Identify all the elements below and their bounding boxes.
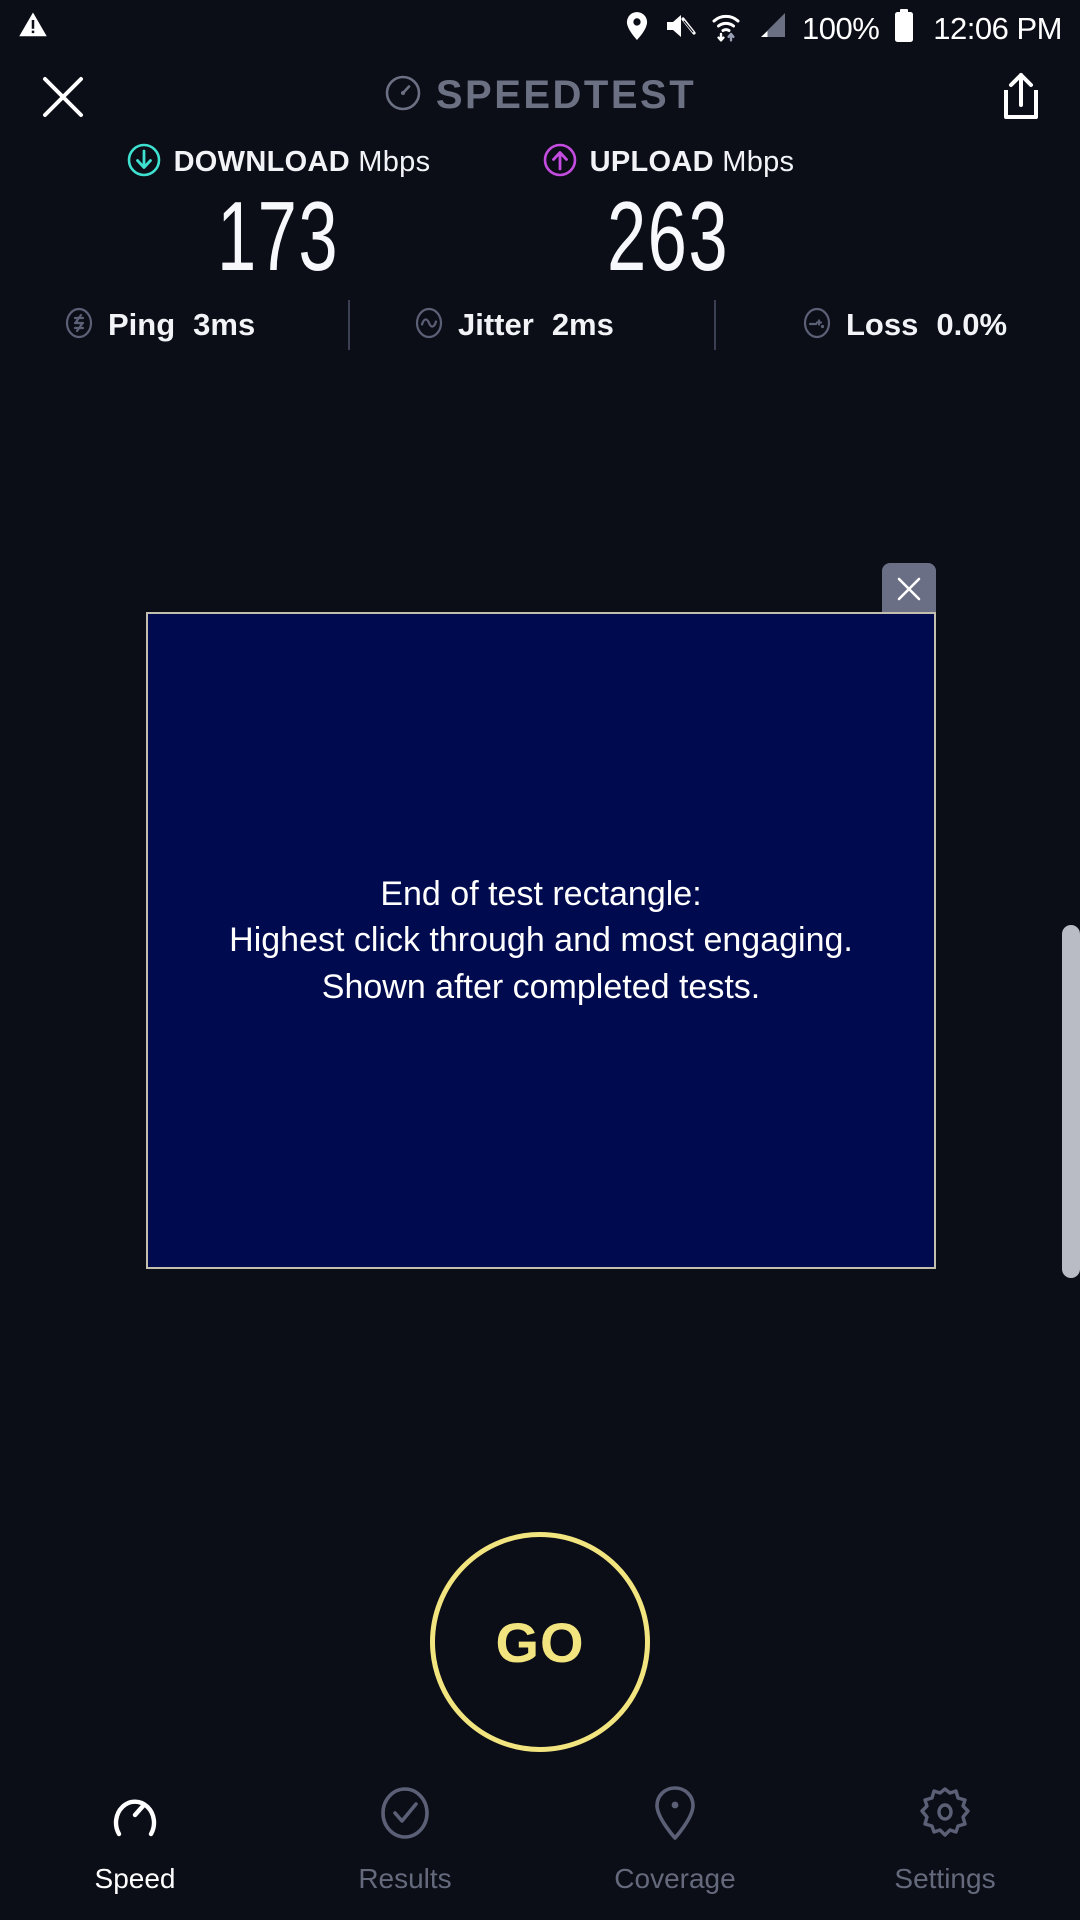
jitter-icon	[412, 306, 446, 345]
ping-label: Ping	[108, 307, 175, 343]
status-bar-right-cluster: 100% 12:06 PM	[624, 0, 1062, 56]
upload-label: UPLOAD	[590, 146, 714, 178]
jitter-value: 2ms	[552, 307, 614, 343]
wifi-icon	[710, 10, 742, 47]
brand-title: SPEEDTEST	[436, 73, 696, 118]
metrics-divider-1	[348, 300, 350, 350]
ad-text: End of test rectangle: Highest click thr…	[229, 871, 853, 1010]
share-icon[interactable]	[990, 66, 1052, 128]
metric-ping: Ping 3ms	[62, 306, 255, 345]
nav-item-results[interactable]: Results	[270, 1784, 540, 1895]
download-unit: Mbps	[358, 146, 430, 178]
metric-loss: Loss 0.0%	[800, 306, 1007, 345]
location-icon	[624, 11, 650, 46]
ad-line-2: Highest click through and most engaging.	[229, 917, 853, 963]
metric-jitter: Jitter 2ms	[412, 306, 614, 345]
metrics-divider-2	[714, 300, 716, 350]
advertisement-banner[interactable]: End of test rectangle: Highest click thr…	[146, 612, 936, 1269]
upload-result: UPLOAD Mbps 263	[468, 140, 868, 288]
nav-label-speed: Speed	[95, 1863, 176, 1895]
upload-arrow-icon	[542, 142, 578, 183]
bottom-navigation: Speed Results Coverage	[0, 1770, 1080, 1920]
nav-item-coverage[interactable]: Coverage	[540, 1784, 810, 1895]
nav-label-coverage: Coverage	[614, 1863, 735, 1895]
go-button-label: GO	[495, 1610, 584, 1675]
download-value: 173	[134, 186, 422, 288]
ping-icon	[62, 306, 96, 345]
battery-percent-label: 100%	[802, 13, 879, 44]
app-header: SPEEDTEST	[0, 56, 1080, 134]
ad-line-1: End of test rectangle:	[229, 871, 853, 917]
nav-label-results: Results	[358, 1863, 451, 1895]
battery-full-icon	[893, 9, 915, 48]
close-icon	[894, 574, 924, 604]
warning-triangle-icon	[18, 10, 48, 40]
mute-icon	[664, 11, 696, 46]
ad-close-button[interactable]	[882, 563, 936, 615]
download-result: DOWNLOAD Mbps 173	[78, 140, 478, 288]
check-circle-icon	[376, 1784, 434, 1847]
speedometer-icon	[384, 74, 422, 117]
scrollbar-thumb[interactable]	[1062, 925, 1080, 1278]
signal-icon	[756, 11, 788, 46]
speedometer-icon	[106, 1784, 164, 1847]
go-button[interactable]: GO	[430, 1532, 650, 1752]
nav-item-settings[interactable]: Settings	[810, 1784, 1080, 1895]
download-label: DOWNLOAD	[174, 146, 350, 178]
speedtest-app-screen: 100% 12:06 PM	[0, 0, 1080, 1920]
brand: SPEEDTEST	[0, 56, 1080, 134]
loss-icon	[800, 306, 834, 345]
jitter-label: Jitter	[458, 307, 534, 343]
nav-label-settings: Settings	[894, 1863, 995, 1895]
map-pin-icon	[646, 1784, 704, 1847]
status-bar: 100% 12:06 PM	[0, 0, 1080, 56]
loss-label: Loss	[846, 307, 918, 343]
ping-value: 3ms	[193, 307, 255, 343]
nav-item-speed[interactable]: Speed	[0, 1784, 270, 1895]
clock-label: 12:06 PM	[933, 13, 1062, 44]
metrics-row: Ping 3ms Jitter 2ms	[0, 290, 1080, 360]
loss-value: 0.0%	[936, 307, 1007, 343]
upload-unit: Mbps	[722, 146, 794, 178]
download-arrow-icon	[126, 142, 162, 183]
gear-icon	[916, 1784, 974, 1847]
ad-line-3: Shown after completed tests.	[229, 964, 853, 1010]
upload-value: 263	[524, 186, 812, 288]
